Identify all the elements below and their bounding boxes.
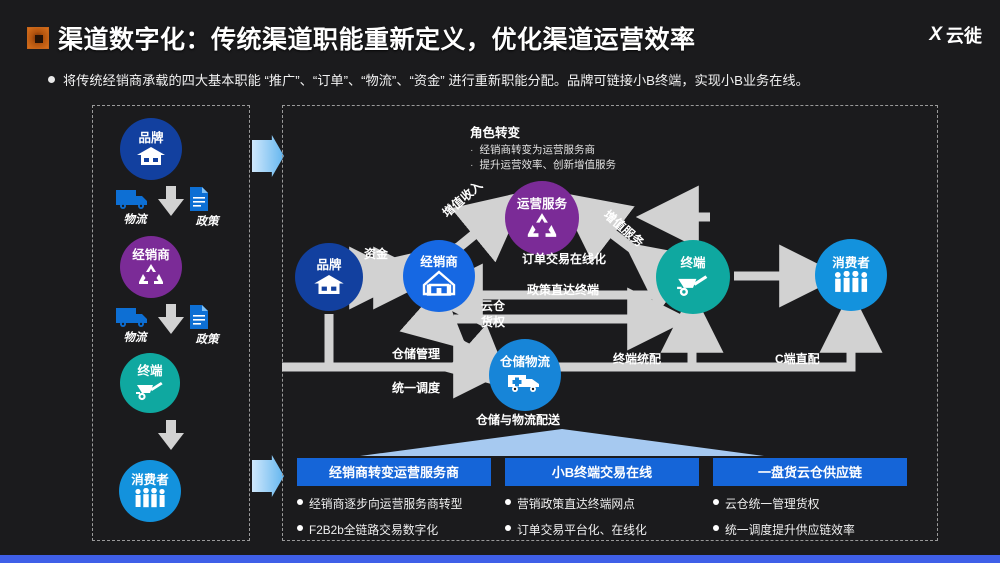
left-connector-1-policy: 政策 — [186, 186, 228, 229]
left-connector-2: 物流 政策 — [92, 304, 250, 347]
diagram-node-terminal-label: 终端 — [680, 257, 705, 270]
people-icon — [832, 271, 870, 293]
bullet-dot-icon — [505, 499, 511, 505]
summary-panel-2-item-text: 营销政策直达终端网点 — [517, 495, 635, 512]
document-icon — [186, 304, 212, 330]
subtitle-row: 将传统经销商承载的四大基本职能 “推广”、“订单”、“物流”、“资金” 进行重新… — [48, 70, 809, 89]
house-icon — [136, 146, 166, 166]
summary-panel-2: 小B终端交易在线 营销政策直达终端网点 订单交易平台化、在线化 — [505, 458, 699, 538]
diagram-node-logistics-label: 仓储物流 — [500, 356, 550, 369]
brand-logo: X 云徙 — [929, 22, 982, 48]
summary-panel-2-item: 订单交易平台化、在线化 — [505, 521, 699, 538]
summary-panel-3-item: 统一调度提升供应链效率 — [713, 521, 907, 538]
summary-panel-1-item: F2B2b全链路交易数字化 — [297, 521, 491, 538]
label-unified-dispatch: 统一调度 — [392, 379, 440, 396]
bullet-dot-icon — [713, 499, 719, 505]
summary-panel-2-title: 小B终端交易在线 — [505, 458, 699, 486]
logo-text: 云徙 — [946, 22, 982, 48]
bullet-dot-icon — [297, 499, 303, 505]
truck-icon — [114, 304, 154, 328]
diagram-node-consumer: 消费者 — [815, 239, 887, 311]
summary-panel-3-item: 云仓统一管理货权 — [713, 495, 907, 512]
left-node-consumer: 消费者 — [119, 460, 181, 522]
summary-panel-3-title: 一盘货云仓供应链 — [713, 458, 907, 486]
subtitle-text: 将传统经销商承载的四大基本职能 “推广”、“订单”、“物流”、“资金” 进行重新… — [63, 70, 809, 89]
arrow-down-icon — [158, 186, 184, 216]
label-policy-direct: 政策直达终端 — [527, 281, 599, 298]
diagram-node-consumer-label: 消费者 — [832, 257, 870, 270]
left-connector-1-logistics-label: 物流 — [114, 211, 156, 227]
left-connector-1-policy-label: 政策 — [186, 213, 228, 229]
summary-panel-1: 经销商转变运营服务商 经销商逐步向运营服务商转型 F2B2b全链路交易数字化 — [297, 458, 491, 538]
bullet-dot-icon — [297, 525, 303, 531]
diagram-node-dealer-label: 经销商 — [420, 256, 458, 269]
diagram-node-logistics: 仓储物流 — [489, 339, 561, 411]
label-terminal-distribution: 终端统配 — [613, 350, 661, 367]
delivery-van-icon — [506, 370, 544, 394]
label-warehouse-delivery: 仓储与物流配送 — [476, 411, 560, 428]
diagram-node-brand-label: 品牌 — [316, 259, 341, 272]
wheelbarrow-icon — [134, 379, 166, 401]
summary-panel-1-title: 经销商转变运营服务商 — [297, 458, 491, 486]
arrow-consumer-direct — [692, 324, 851, 367]
bullet-dot-icon — [713, 525, 719, 531]
page-title: 渠道数字化：传统渠道职能重新定义，优化渠道运营效率 — [58, 20, 696, 56]
label-goods-rights: 货权 — [481, 313, 505, 330]
truck-icon — [114, 186, 154, 210]
label-warehouse-mgmt: 仓储管理 — [392, 345, 440, 362]
house-icon — [313, 274, 345, 295]
diagram-node-operations-label: 运营服务 — [517, 198, 567, 211]
summary-panel-1-item: 经销商逐步向运营服务商转型 — [297, 495, 491, 512]
transition-chevron-top-icon — [252, 135, 284, 177]
summary-panel-3: 一盘货云仓供应链 云仓统一管理货权 统一调度提升供应链效率 — [713, 458, 907, 538]
left-node-brand: 品牌 — [120, 118, 182, 180]
diagram-node-dealer: 经销商 — [403, 240, 475, 312]
left-connector-2-logistics-label: 物流 — [114, 329, 156, 345]
title-marker-icon — [27, 27, 49, 49]
recycle-icon — [524, 212, 560, 238]
summary-panel-1-item-text: 经销商逐步向运营服务商转型 — [309, 495, 462, 512]
diagram-node-terminal: 终端 — [656, 240, 730, 314]
people-icon — [133, 488, 167, 508]
bullet-dot-icon — [505, 525, 511, 531]
logo-mark-icon: X — [929, 24, 941, 46]
bottom-progress-strip[interactable] — [0, 555, 1000, 563]
label-funds: 资金 — [364, 245, 388, 262]
summary-panel-2-item: 营销政策直达终端网点 — [505, 495, 699, 512]
bullet-dot-icon — [48, 76, 55, 83]
wheelbarrow-icon — [674, 272, 712, 297]
left-connector-1-logistics: 物流 — [114, 186, 156, 227]
summary-panel-1-item-text: F2B2b全链路交易数字化 — [309, 521, 438, 538]
arrow-down-icon — [158, 304, 184, 334]
recycle-icon — [136, 263, 166, 285]
slide-header: 渠道数字化：传统渠道职能重新定义，优化渠道运营效率 X 云徙 — [0, 0, 1000, 68]
left-connector-2-policy-label: 政策 — [186, 331, 228, 347]
summary-panel-3-item-text: 统一调度提升供应链效率 — [725, 521, 855, 538]
diagram-node-operations: 运营服务 — [505, 181, 579, 255]
summary-panel-2-item-text: 订单交易平台化、在线化 — [517, 521, 647, 538]
left-node-brand-label: 品牌 — [138, 132, 163, 145]
summary-panel-3-item-text: 云仓统一管理货权 — [725, 495, 819, 512]
summary-triangle-icon — [360, 429, 764, 456]
arrow-dealer-logistics — [442, 327, 487, 367]
arrow-down-icon — [158, 420, 184, 450]
transition-chevron-bottom-icon — [252, 455, 284, 497]
left-connector-2-logistics: 物流 — [114, 304, 156, 345]
left-connector-2-policy: 政策 — [186, 304, 228, 347]
label-c-direct: C端直配 — [775, 350, 820, 367]
left-connector-3 — [92, 420, 250, 450]
left-node-dealer-label: 经销商 — [132, 249, 170, 262]
label-order-online: 订单交易在线化 — [522, 250, 606, 267]
left-node-consumer-label: 消费者 — [131, 474, 169, 487]
document-icon — [186, 186, 212, 212]
left-node-terminal-label: 终端 — [137, 365, 162, 378]
home-outline-icon — [422, 270, 456, 296]
diagram-node-brand: 品牌 — [295, 243, 363, 311]
left-connector-1: 物流 政策 — [92, 186, 250, 229]
left-node-terminal: 终端 — [120, 353, 180, 413]
left-node-dealer: 经销商 — [120, 236, 182, 298]
slide-canvas: 渠道数字化：传统渠道职能重新定义，优化渠道运营效率 X 云徙 将传统经销商承载的… — [0, 0, 1000, 563]
label-cloud-warehouse: 云仓 — [481, 297, 505, 314]
